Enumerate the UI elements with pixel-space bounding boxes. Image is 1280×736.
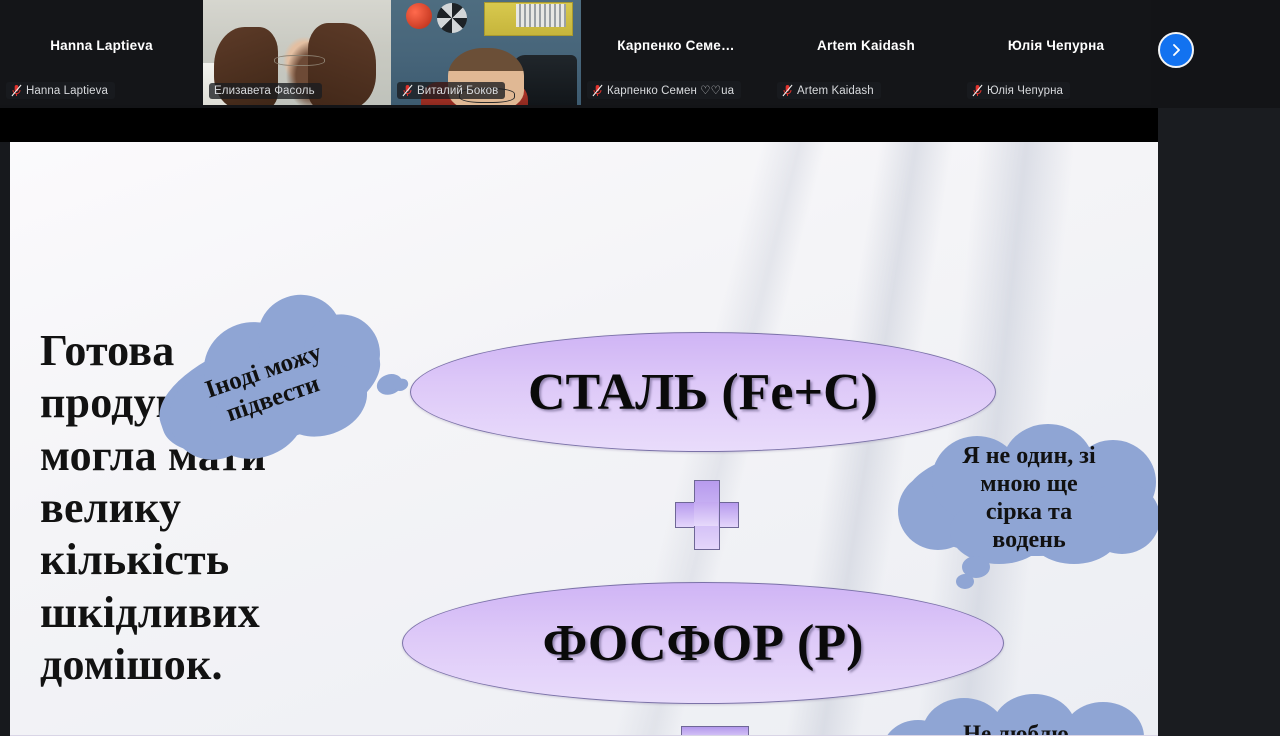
participant-label-name: Hanna Laptieva [26,85,108,97]
thought-cloud-frost: Не люблю мороз [882,694,1150,736]
participant-label-name: Карпенко Семен ♡♡ua [607,83,734,97]
participant-label-name: Елизавета Фасоль [214,85,315,97]
plus-operator-icon [675,480,737,548]
participant-label-name: Artem Kaidash [797,85,874,97]
next-participants-button[interactable] [1158,32,1194,68]
participant-name-badge: Hanna Laptieva [6,82,115,99]
letterbox-bar [0,108,1158,142]
participant-name-badge: Юлія Чепурна [967,82,1070,99]
participant-label-name: Юлія Чепурна [987,85,1063,97]
chevron-right-icon [1169,43,1183,57]
participant-tile-4[interactable]: Artem Kaidash Artem Kaidash [771,0,961,105]
thought-cloud-not-alone: Я не один, зі мною ще сірка та водень [898,424,1158,574]
participant-tile-2[interactable]: Виталий Боков [391,0,581,105]
participant-name-badge: Виталий Боков [397,82,505,99]
equals-operator-icon [681,726,747,736]
participant-display-name: Artem Kaidash [771,38,961,53]
participant-tile-1[interactable]: Елизавета Фасоль [203,0,391,105]
shared-slide[interactable]: Готова продукція могла мати велику кільк… [10,142,1158,736]
microphone-muted-icon [402,84,413,97]
participant-tile-3[interactable]: Карпенко Семе… Карпенко Семен ♡♡ua [581,0,771,105]
participant-display-name: Юлія Чепурна [961,38,1151,53]
participant-tile-5[interactable]: Юлія Чепурна Юлія Чепурна [961,0,1151,105]
participant-display-name: Hanna Laptieva [0,38,203,53]
thought-cloud-not-alone-text: Я не один, зі мною ще сірка та водень [898,424,1158,574]
thought-cloud-frost-text: Не люблю мороз [882,694,1150,736]
microphone-muted-icon [782,84,793,97]
participant-name-badge: Artem Kaidash [777,82,881,99]
participant-filmstrip: Hanna Laptieva Hanna Laptieva Елизавета … [0,0,1280,108]
ellipse-phosphor: ФОСФОР (Р) [402,582,1004,704]
microphone-muted-icon [11,84,22,97]
participant-display-name: Карпенко Семе… [581,38,771,53]
participant-name-badge: Елизавета Фасоль [209,83,322,99]
microphone-muted-icon [592,84,603,97]
participant-name-badge: Карпенко Семен ♡♡ua [587,81,741,99]
participant-tile-0[interactable]: Hanna Laptieva Hanna Laptieva [0,0,203,105]
ellipse-phosphor-label: ФОСФОР (Р) [543,614,864,673]
right-gutter [1158,108,1280,736]
participant-label-name: Виталий Боков [417,85,498,97]
ellipse-steel-label: СТАЛЬ (Fe+C) [528,363,878,422]
microphone-muted-icon [972,84,983,97]
